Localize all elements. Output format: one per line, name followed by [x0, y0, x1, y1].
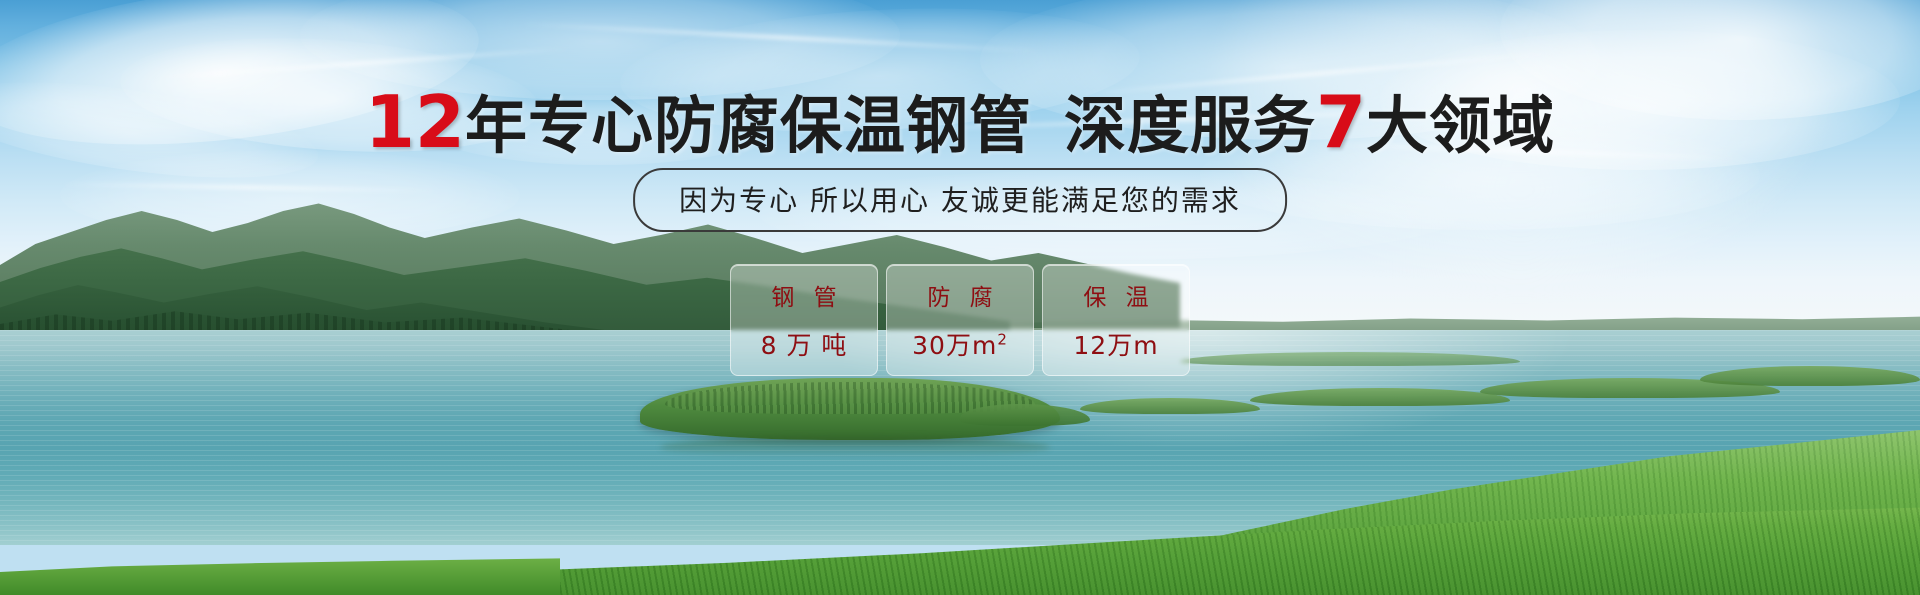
stat-card-steel-pipe[interactable]: 钢 管 8 万 吨 — [730, 264, 878, 376]
stat-card-group: 钢 管 8 万 吨 防 腐 30万m2 保 温 12万m — [730, 264, 1190, 376]
stat-value-text: 30万m — [912, 331, 997, 360]
headline: 12年专心防腐保温钢管深度服务7大领域 — [0, 86, 1920, 158]
stat-label: 钢 管 — [765, 278, 842, 312]
stat-value: 12万m — [1073, 326, 1158, 362]
headline-years-number: 12 — [365, 80, 465, 164]
hero-banner: 12年专心防腐保温钢管深度服务7大领域 因为专心 所以用心 友诚更能满足您的需求… — [0, 0, 1920, 595]
stat-label: 防 腐 — [921, 278, 998, 312]
headline-segment-2: 深度服务 — [1064, 89, 1316, 162]
headline-segment-1: 年专心防腐保温钢管 — [465, 89, 1032, 162]
stat-card-insulation[interactable]: 保 温 12万m — [1042, 264, 1190, 376]
stat-value: 30万m2 — [912, 326, 1008, 362]
stat-label: 保 温 — [1077, 278, 1154, 312]
headline-fields-number: 7 — [1316, 80, 1366, 164]
subtitle-pill: 因为专心 所以用心 友诚更能满足您的需求 — [633, 168, 1287, 232]
headline-segment-3: 大领域 — [1366, 89, 1555, 162]
banner-content: 12年专心防腐保温钢管深度服务7大领域 因为专心 所以用心 友诚更能满足您的需求… — [0, 0, 1920, 595]
stat-value: 8 万 吨 — [761, 326, 848, 362]
stat-card-anticorrosion[interactable]: 防 腐 30万m2 — [886, 264, 1034, 376]
stat-value-superscript: 2 — [997, 331, 1008, 349]
